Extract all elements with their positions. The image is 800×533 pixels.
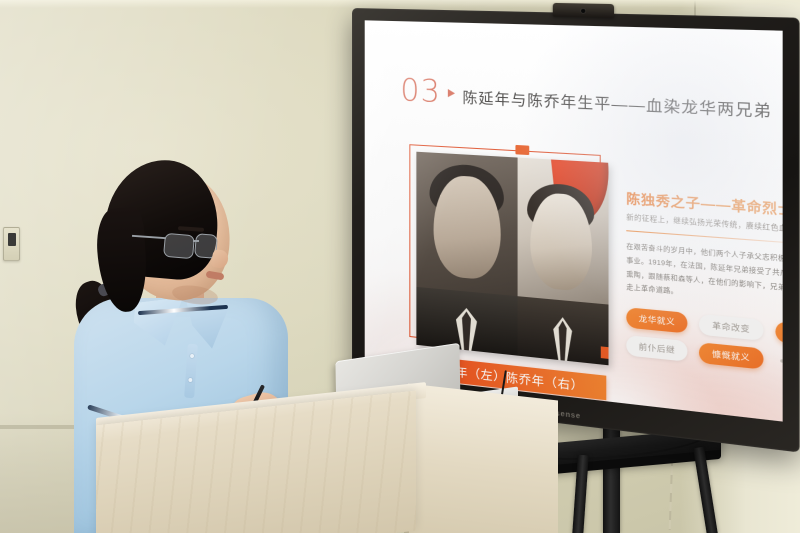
slide-title: 陈延年与陈乔年生平——血染龙华两兄弟 <box>462 92 772 121</box>
photo-pin-bottom-icon <box>601 346 609 359</box>
glasses-icon <box>163 233 195 260</box>
wall-switch-icon[interactable] <box>3 227 20 261</box>
slide-text-column: 陈独秀之子——革命烈士 新的征程上，继续弘扬光荣传统，赓续红色血脉 在艰苦奋斗的… <box>626 187 782 313</box>
camera-icon <box>553 3 614 18</box>
scene-root: 03 陈延年与陈乔年生平——血染龙华两兄弟 <box>0 0 800 533</box>
portrait-right-torso <box>518 296 609 365</box>
ellipsis-icon[interactable] <box>775 359 782 365</box>
portrait-right <box>518 158 609 366</box>
tag-pill-2[interactable]: 革命改变 <box>699 314 763 341</box>
shirt-button-1 <box>190 354 194 358</box>
portrait-left <box>416 152 517 356</box>
tag-pill-1[interactable]: 龙华就义 <box>626 307 688 333</box>
historical-portraits <box>416 152 608 366</box>
slide-photo-block: 陈延年（左）陈乔年（右） <box>416 152 608 372</box>
lectern-side-panel <box>408 383 558 533</box>
slide-section-number: 03 <box>400 76 441 108</box>
photo-pin-top-icon <box>515 145 529 155</box>
glasses-bridge <box>193 240 199 242</box>
triangle-right-icon <box>448 89 455 98</box>
tag-pill-3[interactable]: 宁死不屈 <box>775 321 782 348</box>
shirt-button-2 <box>188 378 192 382</box>
portrait-left-torso <box>416 287 517 356</box>
slide-title-row: 03 陈延年与陈乔年生平——血染龙华两兄弟 <box>400 76 772 124</box>
